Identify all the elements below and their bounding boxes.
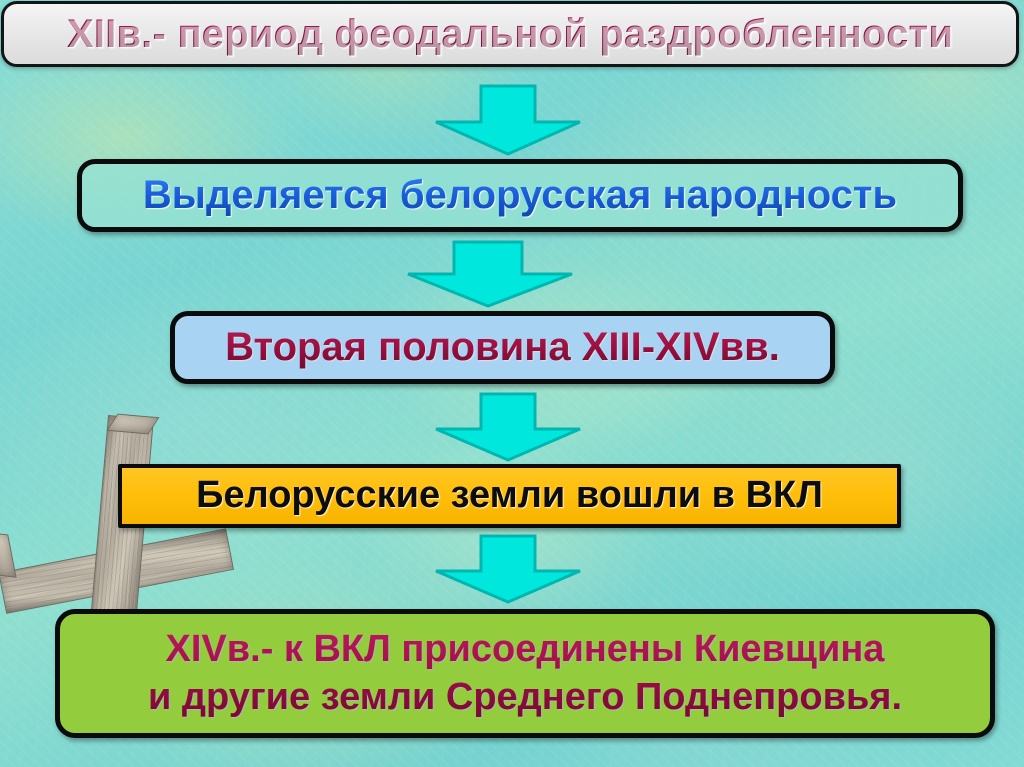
cross-horizontal-beam-end bbox=[0, 532, 17, 577]
flow-step-1-label: Выделяется белорусская народность bbox=[143, 174, 897, 217]
flow-step-2-box: Вторая половина XIII-XIVвв. bbox=[170, 311, 835, 384]
flow-step-2-label: Вторая половина XIII-XIVвв. bbox=[225, 326, 780, 369]
flow-step-3-box: Белорусские земли вошли в ВКЛ bbox=[118, 464, 901, 528]
arrow-1-down-icon bbox=[432, 84, 584, 156]
slide-title-banner: XIIв.- период феодальной раздробленности bbox=[1, 1, 1019, 67]
flow-step-4-label: XIVв.- к ВКЛ присоединены Киевщина и дру… bbox=[148, 626, 902, 721]
arrow-4-down-icon bbox=[432, 534, 584, 604]
page-title: XIIв.- период феодальной раздробленности bbox=[67, 12, 953, 57]
flow-step-4-box: XIVв.- к ВКЛ присоединены Киевщина и дру… bbox=[55, 609, 995, 738]
arrow-2-down-icon bbox=[404, 240, 576, 308]
flow-step-1-box: Выделяется белорусская народность bbox=[77, 159, 963, 232]
arrow-3-down-icon bbox=[432, 392, 584, 462]
flow-step-3-label: Белорусские земли вошли в ВКЛ bbox=[196, 475, 823, 516]
slide-canvas: XIIв.- период феодальной раздробленности… bbox=[0, 0, 1024, 767]
